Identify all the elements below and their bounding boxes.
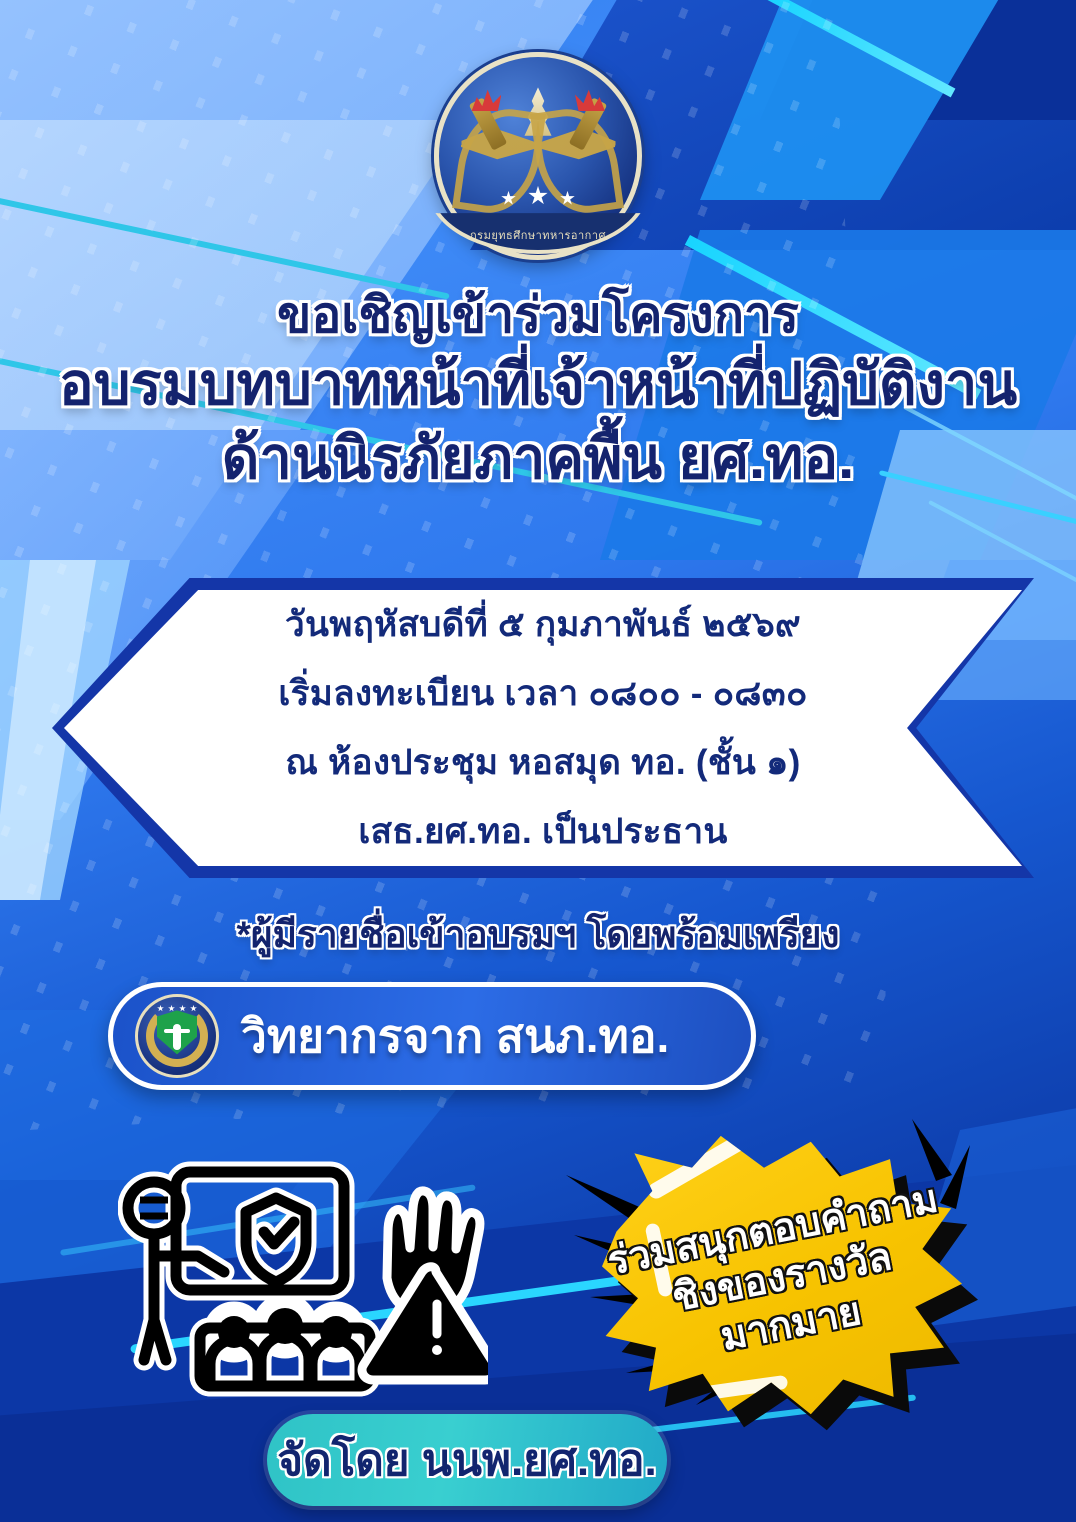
event-date: วันพฤหัสบดีที่ ๕ กุมภาพันธ์ ๒๕๖๙	[285, 597, 801, 652]
crest-caption: กรมยุทธศึกษาทหารอากาศ	[432, 226, 644, 244]
event-venue: ณ ห้องประชุม หอสมุด ทอ. (ชั้น ๑)	[285, 735, 800, 790]
organizer-pill: จัดโดย นนพ.ยศ.ทอ.	[267, 1414, 667, 1506]
headline-line-1: ขอเชิญเข้าร่วมโครงการ	[0, 286, 1076, 345]
event-registration-time: เริ่มลงทะเบียน เวลา ๐๘๐๐ - ๐๘๓๐	[278, 666, 807, 721]
speaker-label: วิทยากรจาก สนภ.ทอ.	[241, 1000, 669, 1073]
training-illustration	[118, 1160, 488, 1410]
prize-promo-burst: ร่วมสนุกตอบคำถาม ชิงของรางวัล มากมาย	[566, 1105, 1006, 1465]
headline-line-2: อบรมบทบาทหน้าที่เจ้าหน้าที่ปฏิบัติงาน	[0, 351, 1076, 419]
air-force-education-crest-icon: กรมยุทธศึกษาทหารอากาศ	[434, 52, 642, 260]
attendance-note: *ผู้มีรายชื่อเข้าอบรมฯ โดยพร้อมเพรียง	[0, 905, 1076, 964]
speaker-pill: วิทยากรจาก สนภ.ทอ.	[108, 982, 756, 1090]
poster-root: กรมยุทธศึกษาทหารอากาศ ขอเชิญเข้าร่วมโครง…	[0, 0, 1076, 1522]
event-details-banner: วันพฤหัสบดีที่ ๕ กุมภาพันธ์ ๒๕๖๙ เริ่มลง…	[52, 578, 1034, 878]
air-force-safety-emblem-icon	[135, 994, 219, 1078]
organizer-label: จัดโดย นนพ.ยศ.ทอ.	[277, 1425, 657, 1495]
headline-line-3: ด้านนิรภัยภาคพื้น ยศ.ทอ.	[0, 425, 1076, 493]
illustration-shapes	[118, 1160, 488, 1410]
page-title: ขอเชิญเข้าร่วมโครงการ อบรมบทบาทหน้าที่เจ…	[0, 286, 1076, 494]
event-chair: เสธ.ยศ.ทอ. เป็นประธาน	[358, 804, 727, 859]
